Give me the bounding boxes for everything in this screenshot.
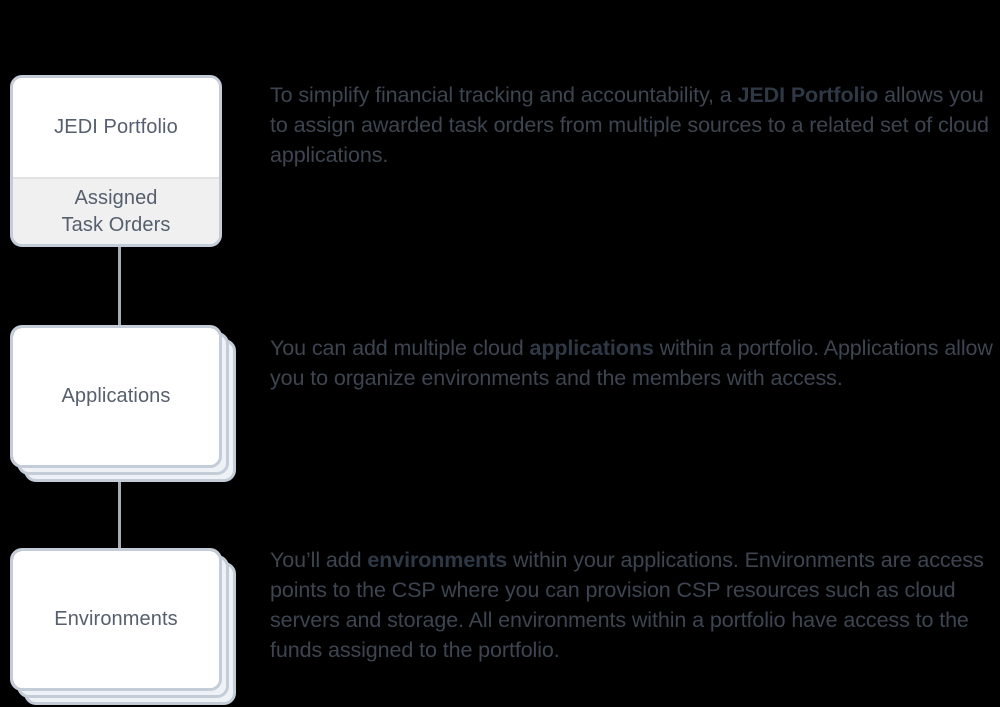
node-jedi-portfolio[interactable]: JEDI Portfolio Assigned Task Orders — [10, 75, 222, 247]
card-stack-portfolio: JEDI Portfolio Assigned Task Orders — [10, 75, 222, 247]
card-stack-environments: Environments — [10, 548, 222, 691]
card-applications-title: Applications — [13, 328, 219, 465]
node-applications[interactable]: Applications — [10, 325, 222, 468]
body-text-run: To simplify financial tracking and accou… — [270, 83, 738, 107]
description-portfolio: To simplify financial tracking and accou… — [270, 80, 1000, 170]
card-portfolio-title: JEDI Portfolio — [13, 78, 219, 177]
card-environments-title: Environments — [13, 551, 219, 688]
card-stack-applications: Applications — [10, 325, 222, 468]
body-text-run: You can add multiple cloud — [270, 336, 529, 360]
node-environments[interactable]: Environments — [10, 548, 222, 691]
card-portfolio-task-orders-line2: Task Orders — [62, 212, 171, 239]
card-portfolio-task-orders: Assigned Task Orders — [13, 177, 219, 244]
card-portfolio[interactable]: JEDI Portfolio Assigned Task Orders — [10, 75, 222, 247]
description-applications: You can add multiple cloud applications … — [270, 333, 1000, 393]
portfolio-structure-diagram: JEDI Portfolio Assigned Task Orders Appl… — [0, 0, 1000, 707]
emphasized-term: JEDI Portfolio — [738, 83, 879, 107]
description-environments: You’ll add environments within your appl… — [270, 545, 1000, 665]
connector-portfolio-to-applications — [118, 247, 121, 325]
body-text-run: You’ll add — [270, 548, 367, 572]
emphasized-term: environments — [367, 548, 507, 572]
card-applications[interactable]: Applications — [10, 325, 222, 468]
emphasized-term: applications — [529, 336, 653, 360]
card-portfolio-task-orders-line1: Assigned — [62, 185, 171, 212]
card-environments[interactable]: Environments — [10, 548, 222, 691]
